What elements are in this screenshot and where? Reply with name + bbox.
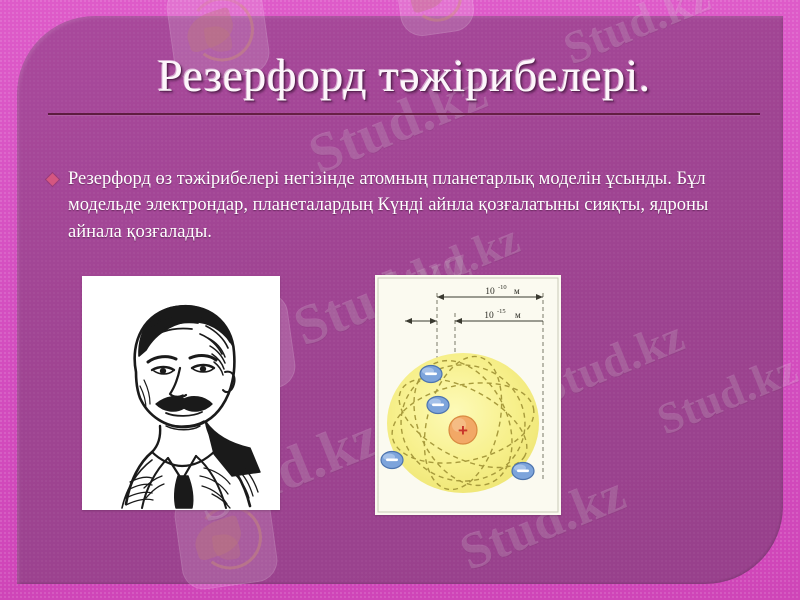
nucleus-diameter-exponent: -15 <box>497 308 506 315</box>
title-divider <box>48 113 760 115</box>
atom-diameter-label: 10 <box>485 287 495 297</box>
atom-diameter-unit: м <box>514 286 520 296</box>
title-block: Резерфорд тәжірибелері. <box>48 52 760 115</box>
atom-diameter-exponent: -10 <box>498 284 507 291</box>
electron <box>512 463 534 480</box>
nucleus-diameter-unit: м <box>515 310 521 320</box>
nucleus-diameter-label: 10 <box>484 311 494 321</box>
diamond-bullet-icon <box>46 173 59 186</box>
electron <box>381 452 403 469</box>
atom-illustration: 10 -10 м 10 -15 м <box>375 275 561 515</box>
electron <box>420 366 442 383</box>
presentation-slide: Stud.kz Stud.kz Stud.kz Stud.kz Stud.kz … <box>0 0 800 600</box>
portrait-illustration <box>82 276 280 510</box>
rutherford-portrait-image <box>82 276 280 510</box>
nucleus-plus-symbol: + <box>458 421 468 440</box>
page-title: Резерфорд тәжірибелері. <box>48 52 760 101</box>
nucleus: + <box>449 416 477 444</box>
body-content: Резерфорд өз тәжірибелері негізінде атом… <box>48 166 748 245</box>
bullet-paragraph: Резерфорд өз тәжірибелері негізінде атом… <box>68 166 748 245</box>
planetary-atom-diagram-image: 10 -10 м 10 -15 м <box>375 275 561 515</box>
electron <box>427 397 449 414</box>
